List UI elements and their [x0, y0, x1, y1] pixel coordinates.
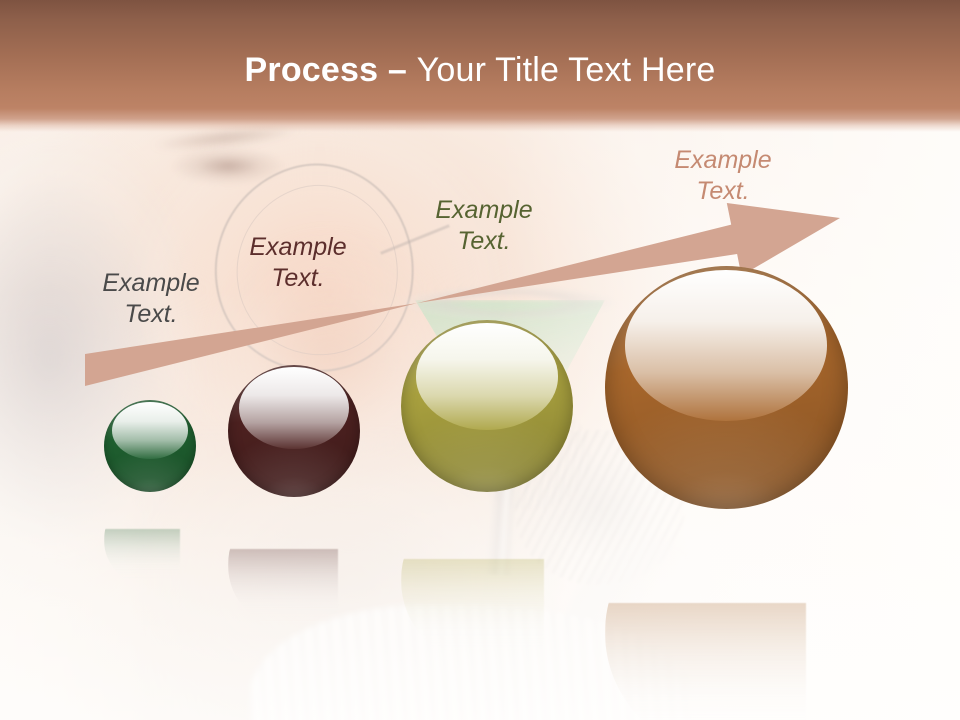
step-label-1[interactable]: Example Text.	[85, 268, 217, 330]
step-label-2[interactable]: Example Text.	[232, 232, 364, 294]
slide-canvas: Process – Your Title Text Here Example T…	[0, 0, 960, 720]
sphere-highlight	[239, 367, 349, 449]
process-sphere-1[interactable]	[104, 400, 196, 492]
page-title-dash: –	[378, 51, 416, 89]
process-sphere-4[interactable]	[605, 266, 848, 509]
sphere-highlight	[112, 402, 188, 459]
step-label-3[interactable]: Example Text.	[418, 195, 550, 257]
process-sphere-reflection-2	[228, 499, 360, 631]
sphere-highlight	[605, 603, 807, 720]
page-title: Process – Your Title Text Here	[0, 48, 960, 92]
sphere-highlight	[625, 270, 827, 421]
step-label-4[interactable]: Example Text.	[652, 145, 794, 207]
sphere-highlight	[401, 559, 544, 666]
sphere-highlight	[416, 323, 559, 430]
sphere-highlight	[228, 549, 338, 631]
page-title-rest: Your Title Text Here	[417, 51, 716, 89]
process-sphere-2[interactable]	[228, 365, 360, 497]
sphere-highlight	[104, 529, 180, 586]
process-sphere-3[interactable]	[401, 320, 573, 492]
page-title-bold: Process	[245, 51, 379, 89]
process-sphere-reflection-3	[401, 494, 573, 666]
process-sphere-reflection-1	[104, 494, 196, 586]
